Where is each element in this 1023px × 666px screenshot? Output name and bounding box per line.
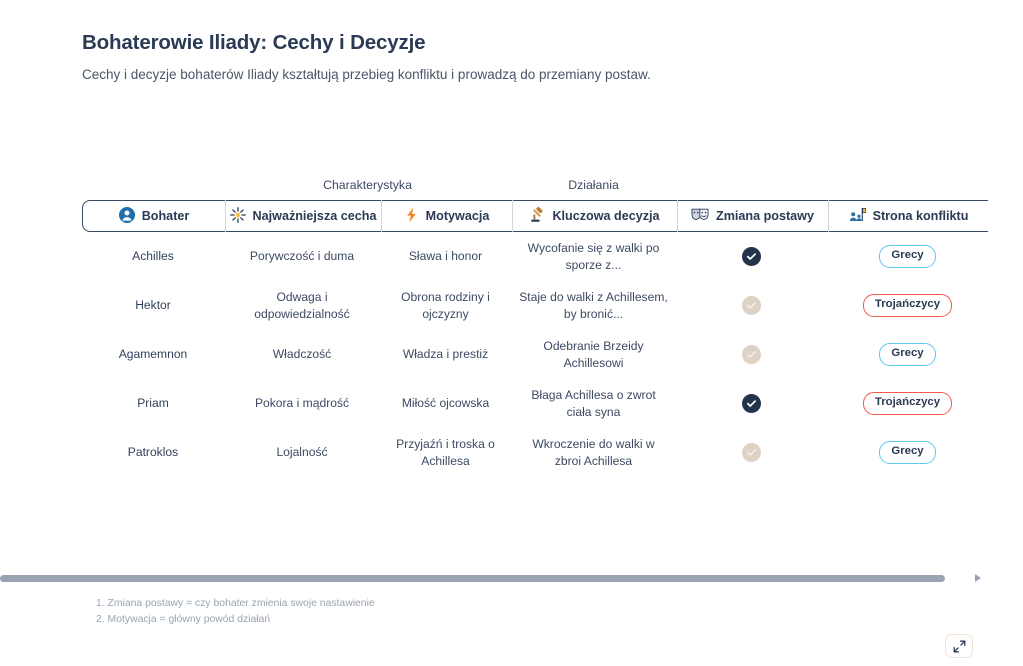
table-row: Hektor Odwaga i odpowiedzialność Obrona …: [82, 281, 988, 330]
cell-trait: Pokora i mądrość: [224, 379, 380, 428]
footnote-item: 1. Zmiana postawy = czy bohater zmienia …: [96, 596, 796, 612]
cell-attitude-change: [676, 232, 827, 281]
column-header-label: Zmiana postawy: [716, 210, 814, 223]
cell-trait: Lojalność: [224, 428, 380, 477]
footnotes: 1. Zmiana postawy = czy bohater zmienia …: [96, 596, 796, 628]
cell-decision: Odebranie Brzeidy Achillesowi: [511, 330, 676, 379]
column-header-kluczowa-decyzja[interactable]: Kluczowa decyzja: [512, 201, 677, 231]
cell-hero: Achilles: [82, 232, 224, 281]
cell-attitude-change: [676, 281, 827, 330]
person-flag-icon: [849, 207, 866, 226]
column-header-strona-konfliktu[interactable]: Strona konfliktu: [828, 201, 989, 231]
group-header-spacer: [82, 191, 224, 194]
column-header-label: Bohater: [142, 210, 190, 223]
column-header-label: Strona konfliktu: [873, 210, 969, 223]
table-row: Agamemnon Władczość Władza i prestiż Ode…: [82, 330, 988, 379]
page-subtitle: Cechy i decyzje bohaterów Iliady kształt…: [82, 66, 962, 85]
expand-arrows-icon: [953, 640, 966, 653]
cell-trait: Porywczość i duma: [224, 232, 380, 281]
table-row: Achilles Porywczość i duma Sława i honor…: [82, 232, 988, 281]
column-header-label: Kluczowa decyzja: [552, 210, 659, 223]
check-on-icon: [742, 394, 761, 413]
data-table: Charakterystyka Działania Bohater: [82, 170, 988, 477]
column-header-label: Najważniejsza cecha: [253, 210, 377, 223]
column-header-zmiana-postawy[interactable]: Zmiana postawy: [677, 201, 828, 231]
status-badge: Trojańczycy: [863, 392, 952, 414]
cell-motivation: Miłość ojcowska: [380, 379, 511, 428]
footnote-item: 2. Motywacja = główny powód działań: [96, 612, 796, 628]
cell-motivation: Obrona rodziny i ojczyzny: [380, 281, 511, 330]
status-badge: Grecy: [879, 441, 935, 463]
group-header-charakterystyka: Charakterystyka: [224, 179, 511, 194]
cell-attitude-change: [676, 330, 827, 379]
status-badge: Trojańczycy: [863, 294, 952, 316]
column-header-label: Motywacja: [426, 210, 490, 223]
column-header-motywacja[interactable]: Motywacja: [381, 201, 512, 231]
table-body: Achilles Porywczość i duma Sława i honor…: [82, 232, 988, 477]
cell-side: Grecy: [827, 330, 988, 379]
cell-hero: Hektor: [82, 281, 224, 330]
check-off-icon: [742, 443, 761, 462]
table-row: Priam Pokora i mądrość Miłość ojcowska B…: [82, 379, 988, 428]
cell-decision: Staje do walki z Achillesem, by bronić..…: [511, 281, 676, 330]
status-badge: Grecy: [879, 245, 935, 267]
cell-motivation: Sława i honor: [380, 232, 511, 281]
cell-side: Trojańczycy: [827, 379, 988, 428]
check-off-icon: [742, 296, 761, 315]
group-header-dzialania: Działania: [511, 179, 676, 194]
gavel-icon: [529, 207, 545, 226]
cell-side: Grecy: [827, 232, 988, 281]
caret-right-icon[interactable]: [975, 574, 981, 582]
cell-decision: Wycofanie się z walki po sporze z...: [511, 232, 676, 281]
sparkle-icon: [230, 207, 246, 226]
page-title: Bohaterowie Iliady: Cechy i Decyzje: [82, 30, 962, 57]
user-circle-icon: [119, 207, 135, 226]
page-header: Bohaterowie Iliady: Cechy i Decyzje Cech…: [82, 30, 962, 85]
column-header-najwazniejsza-cecha[interactable]: Najważniejsza cecha: [225, 201, 381, 231]
cell-hero: Agamemnon: [82, 330, 224, 379]
cell-motivation: Przyjaźń i troska o Achillesa: [380, 428, 511, 477]
table-header-row: Bohater: [82, 200, 988, 232]
cell-trait: Władczość: [224, 330, 380, 379]
horizontal-scrollbar[interactable]: [0, 575, 1023, 582]
cell-side: Grecy: [827, 428, 988, 477]
table-group-header-row: Charakterystyka Działania: [82, 170, 988, 194]
cell-trait: Odwaga i odpowiedzialność: [224, 281, 380, 330]
status-badge: Grecy: [879, 343, 935, 365]
cell-attitude-change: [676, 379, 827, 428]
check-off-icon: [742, 345, 761, 364]
cell-decision: Błaga Achillesa o zwrot ciała syna: [511, 379, 676, 428]
expand-button[interactable]: [945, 634, 973, 658]
lightning-bolt-icon: [404, 207, 419, 226]
cell-decision: Wkroczenie do walki w zbroi Achillesa: [511, 428, 676, 477]
cell-hero: Patroklos: [82, 428, 224, 477]
cell-hero: Priam: [82, 379, 224, 428]
cell-side: Trojańczycy: [827, 281, 988, 330]
check-on-icon: [742, 247, 761, 266]
table-row: Patroklos Lojalność Przyjaźń i troska o …: [82, 428, 988, 477]
cell-motivation: Władza i prestiż: [380, 330, 511, 379]
page-root: Bohaterowie Iliady: Cechy i Decyzje Cech…: [0, 0, 1023, 666]
theater-masks-icon: [691, 207, 709, 225]
cell-attitude-change: [676, 428, 827, 477]
scrollbar-thumb[interactable]: [0, 575, 945, 582]
column-header-bohater[interactable]: Bohater: [83, 201, 225, 231]
